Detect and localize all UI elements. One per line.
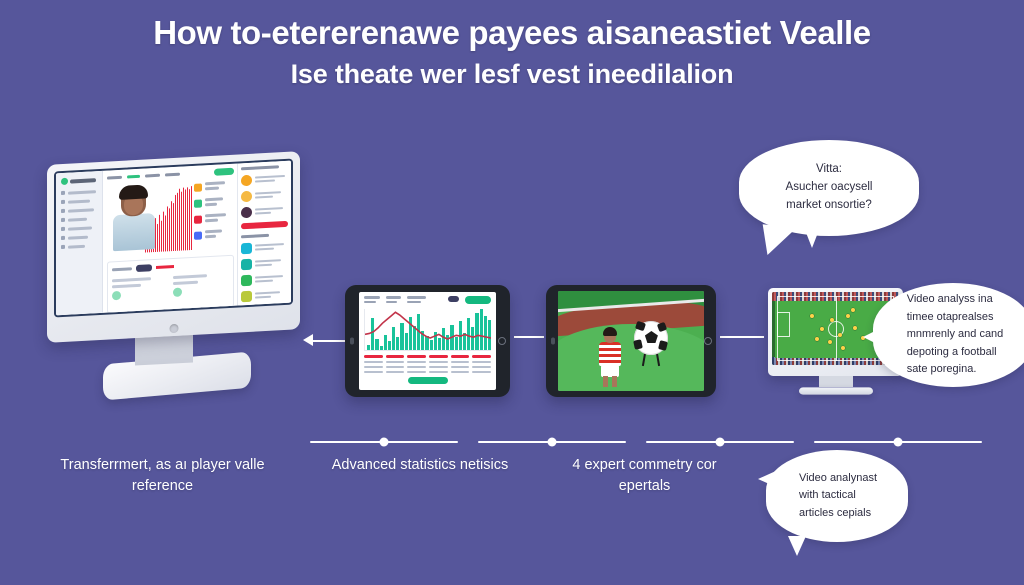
value-bar [189, 189, 190, 250]
metric-row [194, 181, 232, 192]
logo-mark-icon [61, 178, 68, 185]
tactical-line-1: Video analynast [799, 470, 877, 487]
value-bar [171, 201, 172, 251]
right-panel-item[interactable] [241, 257, 288, 271]
player-marker [853, 326, 857, 330]
video-line-4: depoting a football [907, 344, 1004, 362]
stats-table-cell [429, 361, 448, 364]
question-line-1: Vitta: [786, 161, 873, 179]
stats-toolbar [364, 296, 491, 305]
metric-icon [194, 215, 202, 223]
tablet-speaker-icon [551, 338, 555, 345]
item-icon [241, 275, 252, 287]
stats-filter[interactable] [407, 296, 426, 305]
stats-view-toggle[interactable] [448, 296, 459, 302]
device-connector-line [514, 336, 544, 338]
ball-legs [638, 353, 666, 367]
caption-commentary: 4 expert commetry cor epertals [552, 455, 737, 496]
timeline-segment [478, 441, 626, 443]
tactical-line-2: with tactical [799, 487, 877, 504]
player-marker [810, 314, 814, 318]
video-line-2: timee otaprealses [907, 309, 1004, 327]
value-bar [161, 221, 162, 252]
stats-table-cell [407, 361, 426, 364]
player-leg [612, 376, 617, 387]
value-bar [185, 190, 186, 251]
sidebar-item-label [68, 217, 87, 221]
sidebar-item[interactable] [61, 189, 99, 195]
value-bar [181, 191, 182, 250]
card-body [112, 273, 229, 300]
bubble-tail [863, 327, 883, 347]
card-column [112, 276, 167, 300]
right-panel-item[interactable] [241, 273, 288, 287]
monitor-screen [54, 159, 293, 318]
tablet-bezel [345, 285, 510, 397]
right-panel-progress-bar [241, 221, 288, 230]
stats-table-header [407, 355, 426, 358]
item-text [255, 258, 288, 268]
stats-table-cell [364, 361, 383, 364]
timeline-segment [646, 441, 794, 443]
value-bar [183, 187, 184, 250]
value-bar [175, 195, 176, 251]
player-marker [841, 346, 845, 350]
right-panel-badge[interactable] [241, 173, 288, 187]
tablet-screen [359, 292, 496, 390]
sidebar-item-icon [61, 218, 65, 222]
card-text-line [112, 283, 141, 288]
player-marker [838, 333, 842, 337]
stats-table-column [429, 355, 448, 373]
tactical-bubble-text: Video analynast with tactical articles c… [785, 470, 889, 522]
player-shirt [599, 342, 621, 366]
dashboard-metric-list [194, 181, 232, 247]
sidebar-item-label [68, 190, 96, 195]
stats-table-column [364, 355, 383, 373]
card-text-line [112, 277, 151, 282]
topnav-item[interactable] [107, 176, 122, 180]
stats-primary-button[interactable] [408, 377, 448, 384]
metric-row [194, 229, 232, 240]
tactical-speech-bubble: Video analynast with tactical articles c… [766, 450, 908, 542]
stats-table-cell [472, 371, 491, 374]
stats-table-cell [386, 366, 405, 369]
value-bar [191, 186, 192, 250]
value-bar [187, 188, 188, 251]
stats-export-button[interactable] [465, 296, 491, 304]
sidebar-item[interactable] [61, 207, 99, 213]
dashboard-main [103, 164, 237, 313]
metric-text [205, 213, 226, 223]
sidebar-item-icon [61, 191, 65, 195]
stats-filter[interactable] [364, 296, 380, 305]
stats-table-cell [386, 361, 405, 364]
video-line-5: sate poregina. [907, 361, 1004, 379]
topnav-item-active[interactable] [127, 175, 140, 179]
bubble-tail [760, 224, 797, 257]
video-bubble-text: Video analyss ina timee otaprealses mnmr… [889, 291, 1018, 379]
headline-line-2: Ise theate wer lesf vest ineedilalion [0, 57, 1024, 92]
monitor-neck [819, 376, 853, 387]
stats-table-column [472, 355, 491, 373]
card-status-icon [112, 290, 121, 299]
stats-table-header [429, 355, 448, 358]
metric-text [205, 181, 225, 191]
timeline-node [894, 438, 903, 447]
question-speech-bubble: Vitta: Asucher oacysell market onsortie? [739, 140, 919, 236]
sidebar-item-icon [61, 236, 65, 240]
sidebar-item-label [68, 235, 88, 239]
tablet-speaker-icon [350, 338, 354, 345]
metric-row [194, 213, 232, 224]
stats-chart [364, 309, 491, 351]
sidebar-item[interactable] [61, 216, 99, 222]
sidebar-item[interactable] [61, 234, 99, 240]
dashboard-logo [59, 176, 99, 185]
tablet-bezel [546, 285, 716, 397]
right-panel-subheading [241, 234, 269, 239]
value-bar [167, 206, 168, 251]
pitch-grass [558, 324, 704, 391]
item-text [255, 290, 288, 300]
card-tab-active[interactable] [136, 264, 152, 272]
badge-icon [241, 207, 252, 219]
player-marker [846, 314, 850, 318]
bubble-tail-small [788, 536, 806, 556]
stats-table-header [364, 355, 383, 358]
monitor-base [799, 387, 873, 394]
infographic-canvas: How to-etererenawe payees aisaneastiet V… [0, 0, 1024, 585]
player-marker [851, 308, 855, 312]
badge-icon [241, 175, 252, 187]
penalty-box-left [777, 312, 790, 337]
value-bar [169, 209, 170, 252]
card-tab[interactable] [112, 267, 132, 271]
sidebar-item-icon [61, 245, 65, 249]
caption-transfer: Transferrmert, as aı player valle refere… [40, 455, 285, 496]
value-bar [155, 218, 156, 252]
desktop-monitor-device [47, 158, 300, 413]
arrow-shaft [311, 340, 345, 342]
video-line-1: Video analyss ina [907, 291, 1004, 309]
metric-icon [194, 183, 202, 191]
stats-table-column [451, 355, 470, 373]
value-bar [165, 215, 166, 251]
right-panel-badge[interactable] [241, 205, 288, 219]
football-icon [634, 321, 668, 355]
headline-line-1: How to-etererenawe payees aisaneastiet V… [0, 14, 1024, 53]
stats-table-cell [451, 371, 470, 374]
page-title: How to-etererenawe payees aisaneastiet V… [0, 14, 1024, 92]
value-bar [159, 214, 160, 252]
right-panel-heading [241, 165, 279, 170]
stats-line-series [365, 309, 491, 350]
stats-table-column [407, 355, 426, 373]
metric-text [205, 197, 223, 207]
sidebar-item[interactable] [61, 243, 99, 249]
player-value-dashboard [56, 161, 291, 316]
topnav-cta-button[interactable] [214, 168, 234, 176]
sidebar-item-icon [61, 200, 65, 204]
sidebar-item-label [68, 226, 92, 230]
badge-text [255, 190, 288, 200]
dashboard-detail-card [107, 255, 234, 314]
stats-table-header [472, 355, 491, 358]
avatar-hair [119, 184, 148, 200]
metric-icon [194, 199, 202, 207]
player-leg [603, 376, 608, 387]
football-player-figure [599, 327, 621, 387]
stats-table-cell [429, 371, 448, 374]
question-line-3: market onsortie? [786, 197, 873, 215]
sidebar-nav[interactable] [59, 189, 99, 249]
stats-table-column [386, 355, 405, 373]
stats-table-cell [429, 366, 448, 369]
item-icon [241, 291, 252, 303]
metric-text [205, 229, 222, 239]
statistics-tablet-device [345, 285, 510, 397]
badge-text [255, 206, 288, 216]
card-column [173, 273, 228, 297]
right-panel-item[interactable] [241, 241, 288, 255]
sidebar-item-icon [61, 209, 65, 213]
stats-filter[interactable] [386, 296, 401, 305]
video-line-3: mnmrenly and cand [907, 326, 1004, 344]
dashboard-right-panel [237, 161, 291, 306]
card-status-icon [173, 287, 182, 296]
stats-table-cell [472, 361, 491, 364]
value-bar [177, 193, 178, 251]
tablet-home-button[interactable] [704, 337, 712, 345]
player-hair [603, 327, 617, 336]
monitor-body [47, 151, 300, 343]
value-bar [179, 189, 180, 251]
item-icon [241, 243, 252, 255]
card-tab-highlight[interactable] [156, 265, 174, 269]
player-avatar [113, 186, 155, 250]
question-line-2: Asucher oacysell [786, 179, 873, 197]
badge-text [255, 174, 288, 184]
stats-table-cell [451, 366, 470, 369]
timeline-node [548, 438, 557, 447]
card-text-line [173, 274, 206, 279]
video-analysis-speech-bubble: Video analyss ina timee otaprealses mnmr… [873, 283, 1024, 387]
sidebar-item[interactable] [61, 198, 99, 204]
metric-row [194, 197, 232, 208]
right-panel-item[interactable] [241, 289, 288, 303]
stats-table-cell [407, 371, 426, 374]
caption-statistics: Advanced statistics netisics [325, 455, 515, 476]
tablet-home-button[interactable] [498, 337, 506, 345]
bubble-tail-small [805, 230, 819, 248]
right-panel-badge[interactable] [241, 189, 288, 203]
topnav-item[interactable] [145, 174, 160, 178]
value-bar [173, 203, 174, 251]
value-bar [157, 223, 158, 251]
tactical-line-3: articles cepials [799, 505, 877, 522]
timeline-segment [310, 441, 458, 443]
device-connector-line [720, 336, 764, 338]
stats-table-cell [451, 361, 470, 364]
video-tablet-device [546, 285, 716, 397]
sidebar-item-label [68, 244, 85, 248]
value-bar [163, 211, 164, 251]
stats-table-cell [386, 371, 405, 374]
player-hero-panel [107, 178, 234, 259]
timeline-segment [814, 441, 982, 443]
badge-icon [241, 191, 252, 203]
card-text-line [173, 280, 197, 284]
dashboard-sidebar[interactable] [56, 171, 103, 316]
flow-arrow-icon [303, 334, 345, 347]
bubble-tail [758, 470, 778, 488]
stats-table-cell [364, 371, 383, 374]
item-icon [241, 259, 252, 271]
metric-icon [194, 231, 202, 239]
question-bubble-text: Vitta: Asucher oacysell market onsortie? [770, 161, 889, 214]
stats-table-cell [472, 366, 491, 369]
card-tabs[interactable] [112, 260, 229, 273]
sidebar-item-label [68, 208, 94, 212]
logo-wordmark [70, 178, 96, 183]
tablet-screen [558, 291, 704, 391]
topnav-item[interactable] [165, 173, 180, 177]
item-text [255, 242, 288, 252]
avatar-torso [113, 213, 155, 251]
sidebar-item-label [68, 199, 90, 203]
stats-table-header [386, 355, 405, 358]
timeline-node [716, 438, 725, 447]
item-text [255, 274, 288, 284]
stats-table-header [451, 355, 470, 358]
sidebar-item-icon [61, 227, 65, 231]
stats-table-cell [364, 366, 383, 369]
match-video-frame[interactable] [558, 291, 704, 391]
stats-data-table [364, 355, 491, 373]
sidebar-item[interactable] [61, 225, 99, 231]
stats-table-cell [407, 366, 426, 369]
timeline-node [380, 438, 389, 447]
